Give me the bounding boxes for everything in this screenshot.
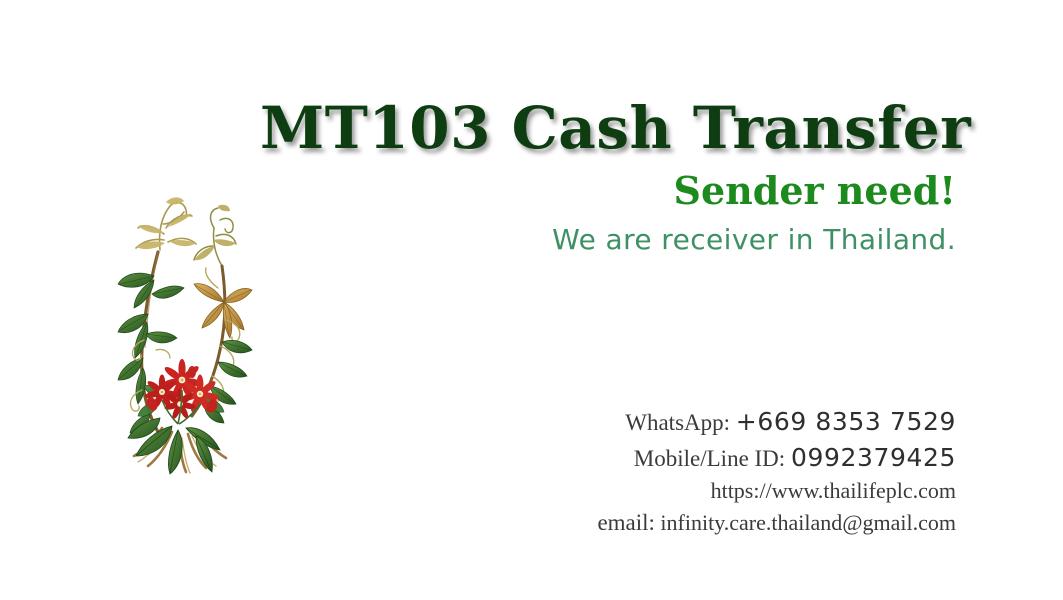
contact-line-whatsapp: WhatsApp: +669 8353 7529 <box>420 404 956 440</box>
whatsapp-label: WhatsApp: <box>625 410 730 435</box>
mobile-line-id-number[interactable]: 0992379425 <box>791 443 956 472</box>
contact-block: WhatsApp: +669 8353 7529 Mobile/Line ID:… <box>420 404 956 539</box>
email-address[interactable]: infinity.care.thailand@gmail.com <box>660 510 956 535</box>
mobile-line-id-label: Mobile/Line ID: <box>634 446 785 471</box>
whatsapp-number[interactable]: +669 8353 7529 <box>736 407 956 436</box>
contact-line-email: email: infinity.care.thailand@gmail.com <box>420 507 956 540</box>
contact-line-mobile: Mobile/Line ID: 0992379425 <box>420 440 956 476</box>
page-subtitle: Sender need! <box>260 170 956 212</box>
headline-block: MT103 Cash Transfer Sender need! We are … <box>260 98 956 256</box>
botanical-vine-wreath-illustration <box>100 190 260 475</box>
website-url[interactable]: https://www.thailifeplc.com <box>711 478 956 503</box>
email-label: email: <box>597 510 654 535</box>
page-tagline: We are receiver in Thailand. <box>260 224 956 256</box>
contact-line-website[interactable]: https://www.thailifeplc.com <box>420 475 956 506</box>
business-card-canvas: MT103 Cash Transfer Sender need! We are … <box>0 0 1063 600</box>
page-title: MT103 Cash Transfer <box>260 98 956 158</box>
